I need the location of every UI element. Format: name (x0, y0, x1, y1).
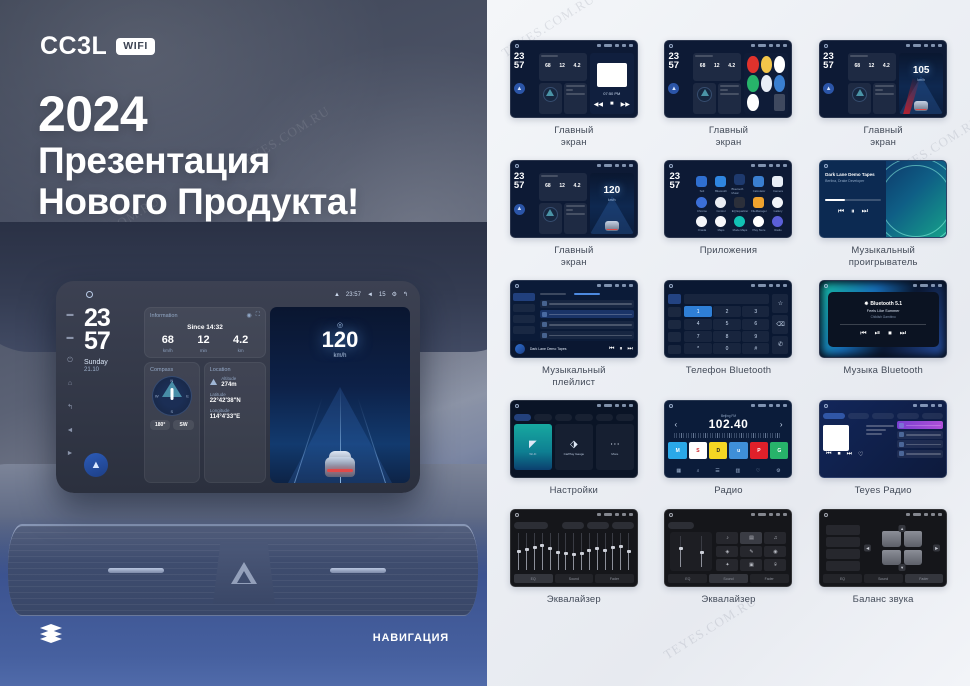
eq-knob[interactable] (627, 550, 631, 553)
playlist-track-list[interactable] (537, 291, 637, 341)
balance-option[interactable] (826, 561, 860, 571)
preset-button[interactable]: ◉ (764, 546, 786, 558)
now-playing-title: Dark Lane Demo Tapes (530, 347, 567, 351)
eq-band[interactable] (611, 533, 615, 570)
arrow-up-icon[interactable]: ▲ (899, 525, 906, 532)
app-item[interactable]: Gallery (769, 197, 786, 214)
sidebar-item-artists[interactable] (513, 304, 535, 312)
app-item[interactable]: Camera (769, 174, 786, 195)
gallery-item[interactable]: ▲ ▼ ◀ ▶ EQ (810, 509, 956, 606)
media-controls[interactable]: ⏮⏸⏭ (609, 346, 633, 353)
settings-icon[interactable]: ⚙ (776, 468, 780, 474)
dial-key[interactable]: 0 (713, 343, 740, 354)
equalizer-header[interactable] (668, 522, 788, 529)
tab-playing[interactable] (574, 293, 600, 295)
wifi-icon (597, 164, 601, 167)
gallery-item[interactable]: 23 57 ▲ 68124.2 (656, 40, 802, 148)
pause-icon[interactable]: ⏸ (619, 346, 622, 353)
eq-band[interactable] (619, 533, 623, 570)
status-bar (511, 161, 637, 170)
app-item[interactable]: Soli (693, 174, 710, 195)
list-item[interactable] (897, 450, 943, 458)
button-plus-icon[interactable]: ▬ (67, 334, 74, 341)
app-item[interactable]: FileManager (750, 197, 767, 214)
gear-icon (776, 513, 780, 516)
preset-button[interactable]: ◈ (716, 546, 738, 558)
screen-thumbnail-bluetooth-phone[interactable]: 1 2 3 4 5 6 7 8 9 * 0 # (664, 280, 792, 358)
gallery-item[interactable]: ⏮⏹⏭♡ (810, 400, 956, 497)
arrow-right-icon[interactable]: ▶ (933, 545, 940, 552)
call-icon[interactable]: ✆ (772, 336, 788, 355)
refresh-icon[interactable]: ◉ (247, 312, 252, 319)
track-title (549, 324, 632, 326)
logo-text: CC3L (40, 34, 107, 59)
home-icon[interactable] (86, 291, 93, 298)
previous-icon[interactable]: ⏮ (860, 330, 866, 338)
dial-key[interactable]: 9 (742, 331, 769, 342)
equalizer-header[interactable] (514, 522, 634, 529)
sidebar-item-dialpad[interactable] (668, 294, 681, 304)
tab-system[interactable] (616, 414, 634, 421)
tab-tools[interactable] (575, 414, 593, 421)
eq-knob[interactable] (572, 553, 576, 556)
preset-button[interactable]: ▣ (740, 559, 762, 571)
eq-knob[interactable] (517, 550, 521, 553)
eq-band[interactable] (627, 533, 631, 570)
station-thumb (899, 432, 904, 437)
eq-band[interactable] (556, 533, 560, 570)
head-unit-side-buttons[interactable]: ▬ ▬ ⏻ ⌂ ↰ ◄ ► (60, 287, 80, 487)
speed-unit: km/h (270, 353, 410, 359)
playlist-tabs[interactable] (540, 293, 634, 297)
station-thumb (899, 442, 904, 447)
sidebar-item-settings[interactable] (668, 345, 681, 355)
preset-button[interactable]: ⌾ (764, 559, 786, 571)
app-label: Chrome (697, 209, 707, 213)
tab-favorites[interactable] (897, 413, 919, 419)
eq-knob[interactable] (564, 552, 568, 555)
stop-icon[interactable]: ⏹ (838, 451, 841, 458)
altitude-label: Altitude (221, 376, 236, 381)
eq-knob[interactable] (556, 551, 560, 554)
eq-band[interactable] (679, 536, 683, 567)
media-info: Dark Lane Demo Tapes Berlina, Drake Deve… (820, 161, 886, 237)
thumbnail-body: 23 57 ▲ 68124.2 120 km/h (511, 170, 637, 237)
footer-tab-sound[interactable]: Sound (864, 574, 903, 583)
volume-icon (924, 513, 928, 516)
back-icon[interactable]: ↰ (67, 404, 73, 411)
list-item[interactable] (897, 421, 943, 429)
eq-band[interactable] (533, 533, 537, 570)
eq-knob[interactable] (580, 552, 584, 555)
preset-buttons-grid[interactable]: ♪ ▤ ♫ ◈ ✎ ◉ ✦ ▣ ⌾ (716, 532, 786, 571)
footer-tab-sound[interactable]: Sound (555, 574, 594, 583)
sidebar-item-contacts[interactable] (668, 307, 681, 317)
eq-band[interactable] (603, 533, 607, 570)
search-icon[interactable]: ⌕ (697, 468, 700, 474)
screen-thumbnail-apps[interactable]: 23 57 Soli Bluetooth Bluetooth Music Cal… (664, 160, 792, 238)
sidebar-item-history[interactable] (668, 332, 681, 342)
arrow-left-icon[interactable]: ◀ (864, 545, 871, 552)
media-controls[interactable]: ⏮ ⏯ ⏹ ⏭ (860, 330, 906, 338)
screen-thumbnail-teyes-radio[interactable]: ⏮⏹⏭♡ (819, 400, 947, 478)
compass-direction: SW (173, 420, 193, 430)
eq-band[interactable] (525, 533, 529, 570)
preset-option[interactable] (562, 522, 584, 529)
wifi-icon: ◤ (529, 439, 537, 450)
app-item[interactable]: EQ Equalizer (731, 197, 748, 214)
dial-key[interactable]: 7 (684, 331, 711, 342)
eq-fill (620, 548, 621, 570)
now-playing-bar[interactable]: Dark Lane Demo Tapes ⏮⏸⏭ (511, 341, 637, 357)
settings-tabs[interactable] (514, 414, 634, 421)
information-card[interactable]: Information ◉ ⛶ Since 14:32 68 km/h (144, 307, 266, 358)
screen-thumbnail-playlist[interactable]: Dark Lane Demo Tapes ⏮⏸⏭ (510, 280, 638, 358)
trip-stat-value: 68 (854, 63, 860, 69)
radio-preset[interactable]: M (668, 442, 686, 459)
next-icon[interactable]: ⏭ (627, 346, 632, 353)
preset-icon: ⌾ (774, 562, 777, 568)
headline-line-1: Презентация (38, 140, 359, 181)
clock-icon (758, 44, 766, 47)
dial-key[interactable]: 1 (684, 306, 711, 317)
app-item[interactable]: Maps (712, 215, 729, 232)
volume-down-icon[interactable]: ◄ (67, 427, 74, 434)
dial-key[interactable]: 3 (742, 306, 769, 317)
preset-button[interactable]: ✦ (716, 559, 738, 571)
eq-band[interactable] (595, 533, 599, 570)
list-item[interactable] (540, 321, 634, 329)
gallery-item[interactable]: 23 57 ▲ 68124.2 07:50 PM ◀◀ (501, 40, 647, 148)
gear-icon (931, 44, 935, 47)
compass-degrees: 180° (150, 420, 170, 430)
preset-button[interactable]: ♪ (716, 532, 738, 544)
eq-knob[interactable] (533, 546, 537, 549)
screen-thumbnail-home-drive[interactable]: 23 57 ▲ 68124.2 120 km/h (510, 160, 638, 238)
eq-knob[interactable] (611, 546, 615, 549)
hazard-button[interactable] (213, 542, 275, 604)
tab-channels[interactable] (848, 413, 870, 419)
screen-thumbnail-home-apps[interactable]: 23 57 ▲ 68124.2 (664, 40, 792, 118)
eq-knob[interactable] (587, 549, 591, 552)
footer-tab-eq[interactable]: EQ (668, 574, 707, 583)
gallery-item[interactable]: ♪ ▤ ♫ ◈ ✎ ◉ ✦ ▣ ⌾ EQ Sound (656, 509, 802, 606)
gallery-item[interactable]: ◤ Wi-Fi ⬗ CarPlay Gauge ⋯ More Н (501, 400, 647, 497)
eq-band[interactable] (564, 533, 568, 570)
settings-card-label: CarPlay Gauge (564, 452, 585, 456)
gain-sliders[interactable] (670, 532, 712, 571)
previous-icon[interactable]: ⏮ (609, 346, 614, 353)
favorite-icon[interactable]: ♡ (858, 451, 863, 458)
radio-preset[interactable]: D (709, 442, 727, 459)
eq-band[interactable] (700, 536, 704, 567)
head-unit-screen[interactable]: ▲ 23:57 ◄ 15 ⚙ ↰ 23 57 Sunday 21.10 ▲ (80, 287, 414, 487)
station-list[interactable] (897, 421, 943, 474)
tab-wifi[interactable] (514, 414, 532, 421)
dial-key[interactable]: * (684, 343, 711, 354)
clock-minutes: 57 (823, 62, 845, 71)
pause-icon[interactable]: ⏸ (851, 208, 855, 216)
balance-option[interactable] (826, 525, 860, 535)
status-bar-right (597, 404, 633, 407)
eq-band[interactable] (580, 533, 584, 570)
radio-presets[interactable]: M S D u P G (668, 442, 788, 459)
app-label: Control (716, 209, 725, 213)
eq-knob[interactable] (603, 549, 607, 552)
station-name (906, 444, 941, 446)
eq-knob[interactable] (525, 548, 529, 551)
eq-icon[interactable]: ▥ (735, 468, 740, 474)
tab-display[interactable] (596, 414, 614, 421)
gallery-item[interactable]: ✸Bluetooth 5.1 Feels Like Summer Childis… (810, 280, 956, 388)
information-card: 68124.2 (539, 53, 587, 81)
clock-column: 23 57 Sunday 21.10 ▲ (84, 307, 140, 483)
radio-preset[interactable]: P (750, 442, 768, 459)
eq-knob[interactable] (595, 547, 599, 550)
track-thumb (542, 333, 547, 338)
status-bar-right (913, 284, 942, 287)
card-line (850, 55, 868, 57)
navigate-icon[interactable]: ▲ (84, 453, 108, 477)
sidebar-item-folders[interactable] (513, 326, 535, 334)
tab-radio[interactable] (823, 413, 845, 419)
dialer-display[interactable] (684, 294, 769, 304)
radio-preset[interactable]: u (729, 442, 747, 459)
screen-thumbnail-home-media[interactable]: 23 57 ▲ 68124.2 07:50 PM ◀◀ (510, 40, 638, 118)
lower-widgets-row: Compass N S W E 180° SW (144, 362, 266, 483)
media-controls[interactable]: ⏮ ⏸ ⏭ (825, 208, 881, 216)
eq-fill (581, 555, 582, 571)
preset-selector[interactable] (514, 522, 548, 529)
screen-thumbnail-equalizer-presets[interactable]: ♪ ▤ ♫ ◈ ✎ ◉ ✦ ▣ ⌾ EQ Sound (664, 509, 792, 587)
previous-station-icon[interactable]: ‹ (674, 420, 677, 429)
app-icon (753, 197, 764, 208)
eq-knob[interactable] (619, 545, 623, 548)
settings-cards[interactable]: ◤ Wi-Fi ⬗ CarPlay Gauge ⋯ More (514, 424, 634, 470)
layers-icon[interactable] (40, 624, 62, 644)
preset-button[interactable]: ✎ (740, 546, 762, 558)
eq-knob[interactable] (700, 551, 704, 554)
media-controls[interactable]: ⏮⏹⏭♡ (823, 451, 863, 458)
gear-icon (622, 164, 626, 167)
footer-tab-eq[interactable]: EQ (823, 574, 862, 583)
expand-icon[interactable]: ⛶ (256, 312, 260, 319)
list-item[interactable] (897, 431, 943, 439)
tab-all[interactable] (540, 293, 566, 295)
favorite-icon[interactable]: ♡ (756, 468, 760, 474)
wifi-icon (597, 44, 601, 47)
status-bar-right (906, 44, 942, 47)
app-item[interactable]: Play Store (750, 215, 767, 232)
eq-knob[interactable] (548, 547, 552, 550)
gear-icon[interactable]: ⚙ (392, 291, 397, 298)
location-card[interactable]: Location ⛰ Altitude 274m Latitude 22° (204, 362, 266, 483)
eq-knob[interactable] (679, 547, 683, 550)
gallery-item[interactable]: 23 57 Soli Bluetooth Bluetooth Music Cal… (656, 160, 802, 268)
dialer-keypad[interactable]: 1 2 3 4 5 6 7 8 9 * 0 # (684, 306, 769, 354)
tab-general[interactable] (555, 414, 573, 421)
radio-frequency: 102.40 (668, 418, 788, 431)
app-item[interactable]: Bluetooth Music (731, 174, 748, 195)
preset-option[interactable] (612, 522, 634, 529)
dial-key[interactable]: 4 (684, 319, 711, 330)
band-icon[interactable]: ▦ (676, 468, 681, 474)
app-item[interactable]: Calculator (750, 174, 767, 195)
app-item[interactable]: Bluetooth (712, 174, 729, 195)
dialer-sidebar[interactable] (668, 294, 681, 354)
home-icon (669, 164, 673, 168)
star-icon[interactable]: ☆ (772, 294, 788, 313)
list-icon[interactable]: ☰ (715, 468, 719, 474)
power-icon[interactable]: ⏻ (67, 357, 73, 364)
dial-key[interactable]: 5 (713, 319, 740, 330)
next-icon[interactable]: ⏭ (900, 330, 906, 338)
tab-menu[interactable] (534, 414, 552, 421)
preset-selector[interactable] (668, 522, 694, 529)
volume-icon (769, 164, 773, 167)
eq-band[interactable] (587, 533, 591, 570)
gallery-item[interactable]: Dark Lane Demo Tapes ⏮⏸⏭ Музыкальныйплей… (501, 280, 647, 388)
balance-footer[interactable]: EQ Sound Fader (823, 574, 943, 583)
app-icon (696, 176, 707, 187)
next-icon[interactable]: ⏭ (847, 451, 852, 458)
settings-card-carplay[interactable]: ⬗ CarPlay Gauge (555, 424, 593, 470)
screen-thumbnail-equalizer-sliders[interactable]: EQ Sound Fader (510, 509, 638, 587)
playlist-main (511, 281, 637, 341)
eq-knob[interactable] (540, 544, 544, 547)
playlist-sidebar[interactable] (511, 291, 537, 341)
dial-key[interactable]: 8 (713, 331, 740, 342)
radio-frequency-scale[interactable] (674, 433, 782, 438)
sidebar-item-tracks[interactable] (513, 293, 535, 301)
play-pause-icon[interactable]: ⏯ (875, 330, 881, 338)
balance-pad[interactable]: ▲ ▼ ◀ ▶ (864, 525, 940, 571)
settings-card-more[interactable]: ⋯ More (596, 424, 634, 470)
wifi-icon: ▲ (334, 292, 340, 298)
sidebar-item-favorites[interactable] (513, 315, 535, 323)
balance-content: ▲ ▼ ◀ ▶ (823, 522, 943, 574)
screen-thumbnail-radio[interactable]: ‹ › Beijing FM 102.40 M S D u P G (664, 400, 792, 478)
gallery-item[interactable]: 23 57 ▲ 68124.2 105 (810, 40, 956, 148)
wifi-icon (751, 44, 755, 47)
location-card (873, 83, 896, 114)
screen-thumbnail-sound-balance[interactable]: ▲ ▼ ◀ ▶ EQ (819, 509, 947, 587)
list-item[interactable] (540, 331, 634, 339)
app-item[interactable]: Chrome (693, 197, 710, 214)
preset-button[interactable]: ♫ (764, 532, 786, 544)
eq-band[interactable] (517, 533, 521, 570)
footer-tab-fader[interactable]: Fader (750, 574, 789, 583)
back-icon[interactable]: ↰ (403, 291, 408, 298)
stop-icon[interactable]: ⏹ (888, 330, 892, 338)
drive-view-card[interactable]: ◎ 120 km/h (270, 307, 410, 483)
gallery-item[interactable]: ‹ › Beijing FM 102.40 M S D u P G (656, 400, 802, 497)
compass-label-s: S (171, 409, 174, 414)
footer-tab-sound[interactable]: Sound (709, 574, 748, 583)
screen-thumbnail-home-drive-red[interactable]: 23 57 ▲ 68124.2 105 (819, 40, 947, 118)
status-bar-right: ▲ 23:57 ◄ 15 ⚙ ↰ (334, 291, 408, 298)
preset-icon: ◈ (726, 549, 730, 555)
app-item[interactable]: Onada (693, 215, 710, 232)
footer-tab-fader[interactable]: Fader (905, 574, 944, 583)
compass-card[interactable]: Compass N S W E 180° SW (144, 362, 200, 483)
list-item[interactable] (540, 310, 634, 318)
tab-settings[interactable] (922, 413, 944, 419)
backspace-icon[interactable]: ⌫ (772, 315, 788, 334)
dialer-actions[interactable]: ☆ ⌫ ✆ (772, 294, 788, 354)
radio-preset[interactable]: S (689, 442, 707, 459)
previous-icon[interactable]: ⏮ (826, 451, 831, 458)
next-icon[interactable]: ⏭ (862, 208, 868, 216)
screen-thumbnail-settings[interactable]: ◤ Wi-Fi ⬗ CarPlay Gauge ⋯ More (510, 400, 638, 478)
equalizer-footer[interactable]: EQ Sound Fader (668, 574, 788, 583)
footer-tab-fader[interactable]: Fader (595, 574, 634, 583)
screen-thumbnail-bluetooth-music[interactable]: ✸Bluetooth 5.1 Feels Like Summer Childis… (819, 280, 947, 358)
equalizer-sliders[interactable] (514, 529, 634, 574)
dial-key[interactable]: 6 (742, 319, 769, 330)
balance-option[interactable] (826, 537, 860, 547)
next-station-icon[interactable]: › (780, 420, 783, 429)
radio-preset[interactable]: G (770, 442, 788, 459)
settings-card-wifi[interactable]: ◤ Wi-Fi (514, 424, 552, 470)
gallery-item[interactable]: 1 2 3 4 5 6 7 8 9 * 0 # (656, 280, 802, 388)
screen-thumbnail-media-player[interactable]: Dark Lane Demo Tapes Berlina, Drake Deve… (819, 160, 947, 238)
seat-front-left (882, 531, 901, 547)
meta-line (866, 429, 885, 431)
balance-option[interactable] (826, 549, 860, 559)
footer-tab-eq[interactable]: EQ (514, 574, 553, 583)
balance-options[interactable] (826, 525, 860, 571)
gallery-item[interactable]: Dark Lane Demo Tapes Berlina, Drake Deve… (810, 160, 956, 268)
preset-option[interactable] (587, 522, 609, 529)
dial-key[interactable]: # (742, 343, 769, 354)
volume-up-icon[interactable]: ► (67, 450, 74, 457)
gallery-item[interactable]: EQ Sound Fader Эквалайзер (501, 509, 647, 606)
media-progress-bar[interactable] (825, 199, 881, 201)
previous-icon[interactable]: ⏮ (838, 208, 844, 216)
tab-library[interactable] (872, 413, 894, 419)
list-item[interactable] (540, 300, 634, 308)
home-icon (669, 404, 673, 408)
media-progress-bar[interactable] (840, 324, 926, 325)
list-item[interactable] (897, 440, 943, 448)
eq-band[interactable] (572, 533, 576, 570)
eq-band[interactable] (540, 533, 544, 570)
app-item[interactable]: Radio (769, 215, 786, 232)
speed-value: 105 (899, 65, 943, 76)
status-bar-right (751, 513, 787, 516)
app-item[interactable]: Control (712, 197, 729, 214)
track-thumb (542, 322, 547, 327)
button-minus-icon[interactable]: ▬ (67, 311, 74, 318)
teyes-radio-tabs[interactable] (823, 413, 943, 419)
home-icon[interactable]: ⌂ (68, 380, 72, 387)
trip-stat-unit: km/h (162, 348, 174, 353)
preset-button[interactable]: ▤ (740, 532, 762, 544)
teyes-radio-body: ⏮⏹⏭♡ (820, 410, 946, 477)
seat-rear-left (882, 550, 901, 566)
dial-key[interactable]: 2 (713, 306, 740, 317)
eq-band[interactable] (548, 533, 552, 570)
gallery-item[interactable]: 23 57 ▲ 68124.2 120 km/h (501, 160, 647, 268)
eq-fill (612, 549, 613, 570)
radio-toolbar[interactable]: ▦ ⌕ ☰ ▥ ♡ ⚙ (668, 468, 788, 474)
station-name (906, 453, 941, 455)
sidebar-item-search[interactable] (668, 320, 681, 330)
app-item[interactable]: Mode Maps (731, 215, 748, 232)
arrow-down-icon[interactable]: ▼ (899, 564, 906, 571)
equalizer-footer[interactable]: EQ Sound Fader (514, 574, 634, 583)
